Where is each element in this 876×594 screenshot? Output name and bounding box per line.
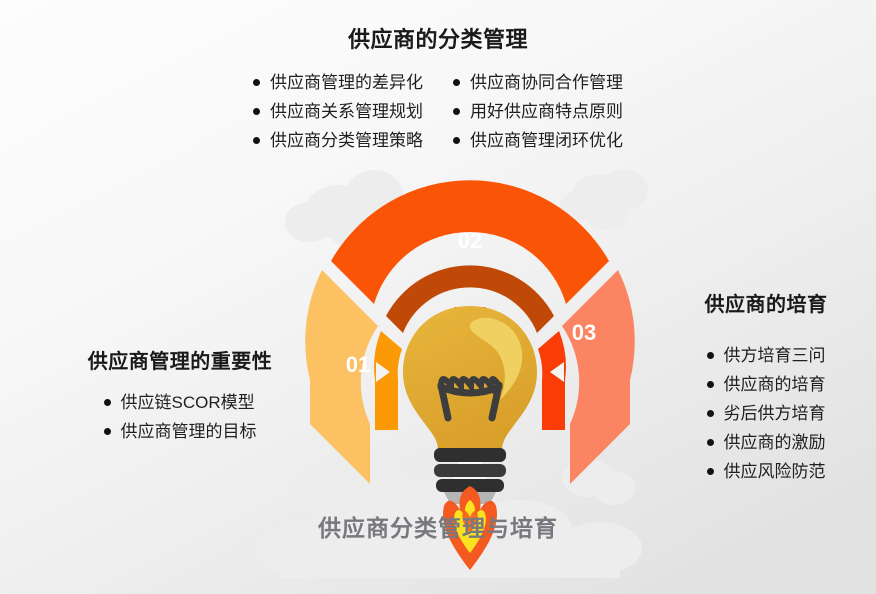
arc-segment-01-number: 01 [346,352,370,377]
list-item-label: 供应链SCOR模型 [121,388,255,417]
bullet-dot-icon [707,468,714,475]
list-item-label: 供应商管理的目标 [121,417,257,446]
list-item-label: 供应风险防范 [724,457,826,486]
list-item: 供方培育三问 [707,341,826,370]
bullet-dot-icon [253,137,260,144]
list-item-label: 供方培育三问 [724,341,826,370]
left-section: 供应商管理的重要性 供应链SCOR模型 供应商管理的目标 [30,345,330,446]
list-item: 供应商协同合作管理 [453,68,623,97]
list-item: 供应商管理的目标 [104,417,257,446]
list-item-label: 供应商关系管理规划 [270,97,423,126]
top-section-title: 供应商的分类管理 [0,22,876,54]
left-section-title: 供应商管理的重要性 [30,345,330,374]
top-section-bullets-left: 供应商管理的差异化 供应商关系管理规划 供应商分类管理策略 [253,68,423,155]
right-section-title: 供应商的培育 [666,288,866,317]
bulb-filament-coils [441,379,499,386]
list-item: 用好供应商特点原则 [453,97,623,126]
list-item-label: 用好供应商特点原则 [470,97,623,126]
list-item-label: 供应商的培育 [724,370,826,399]
bullet-dot-icon [707,410,714,417]
right-section-bullets: 供方培育三问 供应商的培育 劣后供方培育 供应商的激励 供应风险防范 [707,341,826,486]
list-item: 供应链SCOR模型 [104,388,257,417]
list-item: 供应商管理闭环优化 [453,126,623,155]
list-item: 供应商的激励 [707,428,826,457]
right-section: 供应商的培育 供方培育三问 供应商的培育 劣后供方培育 供应商的激励 供应风险防… [666,288,866,486]
bullet-dot-icon [707,439,714,446]
list-item: 劣后供方培育 [707,399,826,428]
bullet-dot-icon [707,381,714,388]
left-section-bullets: 供应链SCOR模型 供应商管理的目标 [104,388,257,446]
bullet-dot-icon [453,137,460,144]
bullet-dot-icon [104,399,111,406]
bullet-dot-icon [253,108,260,115]
list-item-label: 供应商管理的差异化 [270,68,423,97]
list-item: 供应商分类管理策略 [253,126,423,155]
list-item-label: 供应商的激励 [724,428,826,457]
top-section-bullets-right: 供应商协同合作管理 用好供应商特点原则 供应商管理闭环优化 [453,68,623,155]
bullet-dot-icon [104,428,111,435]
bottom-caption: 供应商分类管理与培育 [0,509,876,543]
list-item-label: 劣后供方培育 [724,399,826,428]
list-item: 供应商管理的差异化 [253,68,423,97]
list-item-label: 供应商协同合作管理 [470,68,623,97]
list-item: 供应商的培育 [707,370,826,399]
list-item-label: 供应商管理闭环优化 [470,126,623,155]
bullet-dot-icon [453,108,460,115]
arc-segment-03-number: 03 [572,320,596,345]
list-item: 供应商关系管理规划 [253,97,423,126]
arc-segment-02-number: 02 [458,228,482,253]
top-section-columns: 供应商管理的差异化 供应商关系管理规划 供应商分类管理策略 供应商协同合作管理 [0,68,876,155]
bullet-dot-icon [453,79,460,86]
list-item: 供应风险防范 [707,457,826,486]
bullet-dot-icon [707,352,714,359]
bullet-dot-icon [253,79,260,86]
top-section: 供应商的分类管理 供应商管理的差异化 供应商关系管理规划 供应商分类管理策略 [0,22,876,155]
infographic-slide: 01 02 03 [0,0,876,594]
list-item-label: 供应商分类管理策略 [270,126,423,155]
